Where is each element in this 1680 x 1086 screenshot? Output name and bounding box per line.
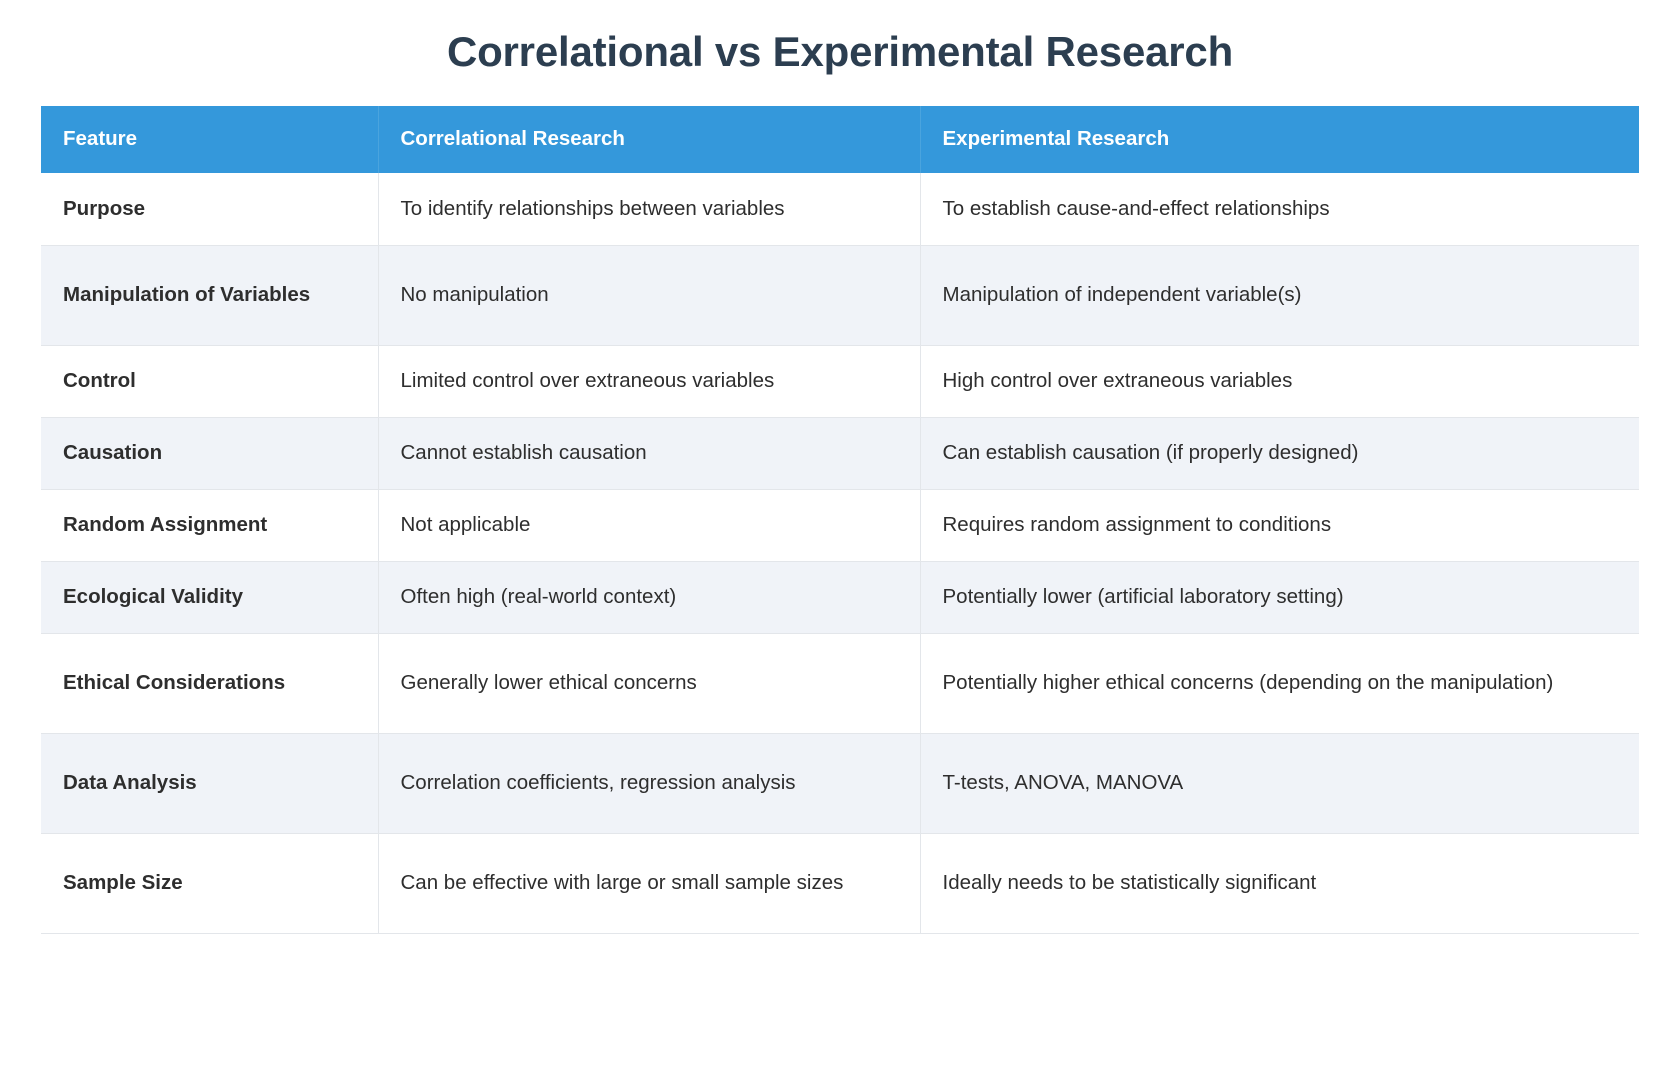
- cell-correlational: To identify relationships between variab…: [378, 173, 920, 245]
- cell-feature: Causation: [41, 417, 378, 489]
- table-header: Feature Correlational Research Experimen…: [41, 106, 1639, 173]
- cell-feature: Manipulation of Variables: [41, 245, 378, 345]
- table-row: Data Analysis Correlation coefficients, …: [41, 733, 1639, 833]
- cell-correlational: Often high (real-world context): [378, 561, 920, 633]
- column-header-experimental-research[interactable]: Experimental Research: [920, 106, 1639, 173]
- cell-experimental: Potentially lower (artificial laboratory…: [920, 561, 1639, 633]
- table-row: Sample Size Can be effective with large …: [41, 833, 1639, 933]
- table-body: Purpose To identify relationships betwee…: [41, 173, 1639, 933]
- cell-experimental: To establish cause-and-effect relationsh…: [920, 173, 1639, 245]
- cell-feature: Sample Size: [41, 833, 378, 933]
- cell-correlational: Not applicable: [378, 489, 920, 561]
- table-row: Purpose To identify relationships betwee…: [41, 173, 1639, 245]
- cell-feature: Data Analysis: [41, 733, 378, 833]
- table-row: Ethical Considerations Generally lower e…: [41, 633, 1639, 733]
- table-row: Manipulation of Variables No manipulatio…: [41, 245, 1639, 345]
- table-header-row: Feature Correlational Research Experimen…: [41, 106, 1639, 173]
- cell-experimental: High control over extraneous variables: [920, 345, 1639, 417]
- table-row: Ecological Validity Often high (real-wor…: [41, 561, 1639, 633]
- table-row: Control Limited control over extraneous …: [41, 345, 1639, 417]
- cell-experimental: T-tests, ANOVA, MANOVA: [920, 733, 1639, 833]
- comparison-table-container: Feature Correlational Research Experimen…: [41, 106, 1639, 934]
- cell-feature: Ecological Validity: [41, 561, 378, 633]
- cell-correlational: No manipulation: [378, 245, 920, 345]
- page-title: Correlational vs Experimental Research: [0, 0, 1680, 77]
- cell-correlational: Cannot establish causation: [378, 417, 920, 489]
- cell-correlational: Can be effective with large or small sam…: [378, 833, 920, 933]
- table-row: Random Assignment Not applicable Require…: [41, 489, 1639, 561]
- cell-experimental: Can establish causation (if properly des…: [920, 417, 1639, 489]
- cell-feature: Purpose: [41, 173, 378, 245]
- cell-experimental: Requires random assignment to conditions: [920, 489, 1639, 561]
- table-row: Causation Cannot establish causation Can…: [41, 417, 1639, 489]
- column-header-feature[interactable]: Feature: [41, 106, 378, 173]
- cell-feature: Ethical Considerations: [41, 633, 378, 733]
- cell-feature: Control: [41, 345, 378, 417]
- cell-experimental: Manipulation of independent variable(s): [920, 245, 1639, 345]
- comparison-table: Feature Correlational Research Experimen…: [41, 106, 1639, 934]
- column-header-correlational-research[interactable]: Correlational Research: [378, 106, 920, 173]
- cell-correlational: Generally lower ethical concerns: [378, 633, 920, 733]
- cell-experimental: Potentially higher ethical concerns (dep…: [920, 633, 1639, 733]
- cell-correlational: Correlation coefficients, regression ana…: [378, 733, 920, 833]
- page-root: Correlational vs Experimental Research F…: [0, 0, 1680, 1086]
- cell-experimental: Ideally needs to be statistically signif…: [920, 833, 1639, 933]
- cell-feature: Random Assignment: [41, 489, 378, 561]
- cell-correlational: Limited control over extraneous variable…: [378, 345, 920, 417]
